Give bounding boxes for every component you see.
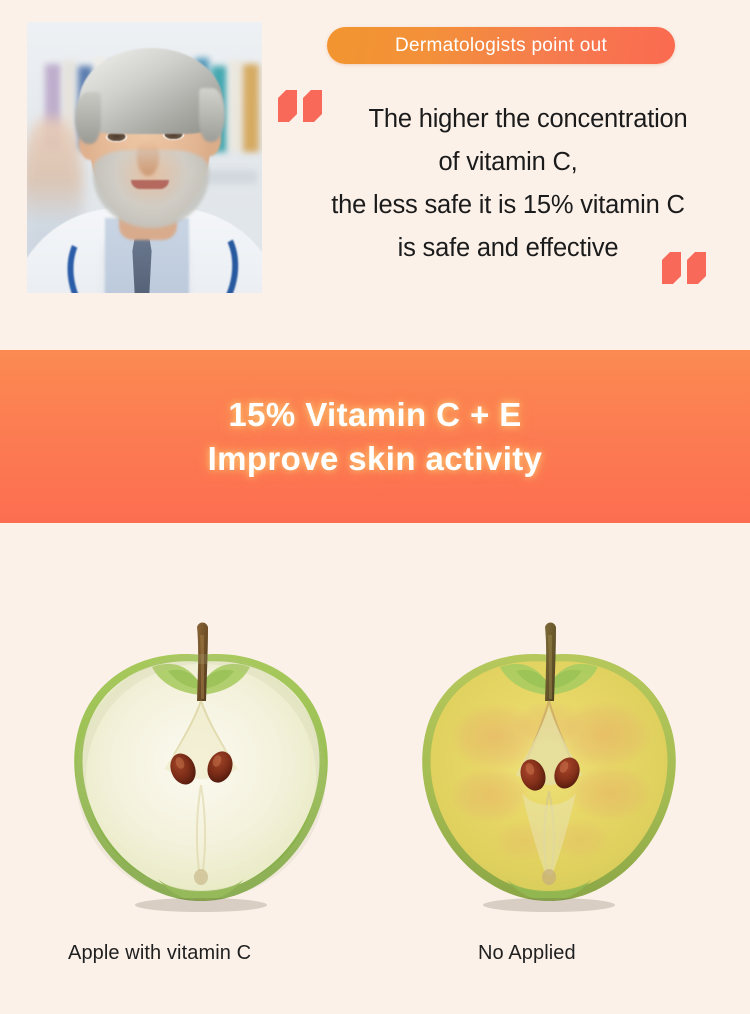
quote-close-icon bbox=[662, 252, 706, 284]
apple-caption-right: No Applied bbox=[384, 942, 714, 965]
doctor-hair-right bbox=[199, 88, 225, 142]
doctor-photo bbox=[27, 22, 262, 293]
banner-line-1: 15% Vitamin C + E bbox=[228, 396, 521, 434]
infographic-page: Dermatologists point out The higher the … bbox=[0, 0, 750, 1014]
quote-text: The higher the concentration of vitamin … bbox=[294, 98, 722, 270]
headline-banner: 15% Vitamin C + E Improve skin activity bbox=[0, 350, 750, 523]
apple-caption-left: Apple with vitamin C bbox=[36, 942, 366, 965]
banner-line-2: Improve skin activity bbox=[208, 440, 543, 478]
quote-block: The higher the concentration of vitamin … bbox=[270, 82, 730, 292]
apple-comparison-right: No Applied bbox=[384, 589, 714, 989]
quote-line-1: The higher the concentration bbox=[294, 98, 722, 141]
apple-image-oxidized bbox=[384, 589, 714, 919]
doctor-hair-left bbox=[75, 92, 101, 144]
banner-text-group: 15% Vitamin C + E Improve skin activity bbox=[0, 350, 750, 523]
pill-badge-label: Dermatologists point out bbox=[395, 35, 607, 57]
quote-line-4: is safe and effective bbox=[294, 227, 722, 270]
doctor-mouth bbox=[131, 180, 169, 189]
dermatologist-quote-section: Dermatologists point out The higher the … bbox=[0, 0, 750, 350]
quote-line-3: the less safe it is 15% vitamin C bbox=[294, 184, 722, 227]
doctor-nose bbox=[137, 140, 159, 176]
quote-line-2: of vitamin C, bbox=[294, 141, 722, 184]
dermatologists-pill-badge: Dermatologists point out bbox=[327, 27, 675, 64]
apple-comparison-section: Apple with vitamin C bbox=[0, 523, 750, 1014]
apple-image-fresh bbox=[36, 589, 366, 919]
apple-comparison-left: Apple with vitamin C bbox=[36, 589, 366, 989]
